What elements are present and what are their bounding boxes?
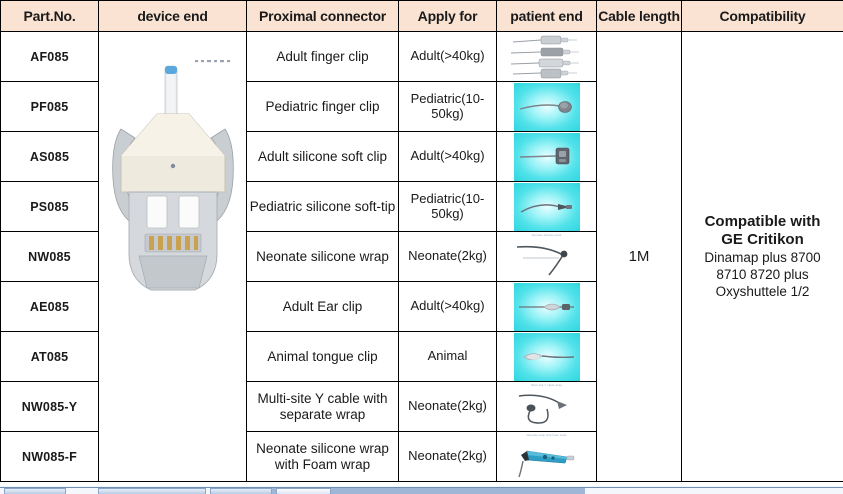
multi-connector-svg: [501, 33, 593, 81]
patient-end-caption: Neonate wrap with foam wrap: [501, 434, 593, 437]
cell-proximal-connector: Adult silicone soft clip: [247, 132, 399, 182]
compatibility-table: Part.No. device end Proximal connector A…: [0, 0, 843, 482]
compatibility-heading-line2: GE Critikon: [682, 231, 843, 249]
patient-end-art-soft-tip: [514, 183, 580, 231]
cell-proximal-connector: Pediatric finger clip: [247, 82, 399, 132]
patient-end-art-tongue-clip: [514, 333, 580, 381]
column-header-proximal-connector: Proximal connector: [247, 1, 399, 32]
cell-apply-for: Adult(>40kg): [399, 282, 497, 332]
chrome-button-4[interactable]: [276, 488, 331, 494]
patient-end-thumbnail: Multi-site Y cable wrap: [497, 383, 596, 431]
patient-end-art-multi-connector: [501, 33, 593, 81]
cell-patient-end-image: Multi-site Y cable wrap: [497, 382, 597, 432]
cell-proximal-connector: Multi-site Y cable with separate wrap: [247, 382, 399, 432]
patient-end-thumbnail: Neonate wrap with foam wrap: [497, 433, 596, 481]
cell-proximal-connector: Adult finger clip: [247, 32, 399, 82]
ear-clip-svg: [514, 283, 580, 331]
cell-patient-end-image: [497, 132, 597, 182]
table-row: AF085: [1, 32, 843, 82]
cell-part-no: PF085: [1, 82, 99, 132]
cell-apply-for: Neonate(2kg): [399, 432, 497, 482]
cell-part-no: NW085: [1, 232, 99, 282]
column-header-cable-length: Cable length: [597, 1, 682, 32]
cell-part-no: NW085-Y: [1, 382, 99, 432]
cell-patient-end-image: [497, 282, 597, 332]
cell-patient-end-image: [497, 332, 597, 382]
column-header-part-no: Part.No.: [1, 1, 99, 32]
patient-end-thumbnail: [497, 283, 596, 331]
compatibility-line-3: Oxyshuttele 1/2: [682, 283, 843, 300]
cell-part-no: AS085: [1, 132, 99, 182]
compatibility-heading-line1: Compatible with: [682, 213, 843, 231]
patient-end-art-y-cable: Multi-site Y cable wrap: [501, 383, 593, 431]
soft-tip-svg: [514, 183, 580, 231]
patient-end-art-finger-clip: [514, 83, 580, 131]
cell-patient-end-image: Neonate silicone wrap: [497, 232, 597, 282]
patient-end-art-silicone-soft-clip: [514, 133, 580, 181]
patient-end-thumbnail: [497, 183, 596, 231]
device-end-svg: [99, 44, 247, 464]
patient-end-caption: Multi-site Y cable wrap: [501, 384, 593, 387]
cell-part-no: AT085: [1, 332, 99, 382]
window-chrome-strip: [0, 486, 843, 494]
cell-patient-end-image: [497, 32, 597, 82]
cell-apply-for: Adult(>40kg): [399, 132, 497, 182]
cell-apply-for: Pediatric(10-50kg): [399, 82, 497, 132]
cell-apply-for: Neonate(2kg): [399, 382, 497, 432]
cell-part-no: AF085: [1, 32, 99, 82]
cell-proximal-connector: Pediatric silicone soft-tip: [247, 182, 399, 232]
patient-end-thumbnail: Neonate silicone wrap: [497, 233, 596, 281]
cell-patient-end-image: [497, 82, 597, 132]
cell-apply-for: Adult(>40kg): [399, 32, 497, 82]
patient-end-art-foam-wrap: Neonate wrap with foam wrap: [501, 433, 593, 481]
cell-apply-for: Animal: [399, 332, 497, 382]
cell-proximal-connector: Neonate silicone wrap with Foam wrap: [247, 432, 399, 482]
neonate-wrap-svg: [501, 233, 593, 281]
column-header-patient-end: patient end: [497, 1, 597, 32]
device-end-connector-illustration: [99, 44, 247, 469]
y-cable-svg: [501, 383, 593, 431]
patient-end-thumbnail: [497, 83, 596, 131]
soft-clip-svg: [514, 133, 580, 181]
chrome-button-2[interactable]: [98, 488, 206, 494]
table-body: AF085: [1, 32, 843, 482]
column-header-compatibility: Compatibility: [682, 1, 843, 32]
patient-end-art-neonate-wrap: Neonate silicone wrap: [501, 233, 593, 281]
cell-proximal-connector: Neonate silicone wrap: [247, 232, 399, 282]
header-row: Part.No. device end Proximal connector A…: [1, 1, 843, 32]
cell-proximal-connector: Animal tongue clip: [247, 332, 399, 382]
cell-part-no: AE085: [1, 282, 99, 332]
cell-part-no: NW085-F: [1, 432, 99, 482]
cell-compatibility: Compatible with GE Critikon Dinamap plus…: [682, 32, 843, 482]
cell-patient-end-image: Neonate wrap with foam wrap: [497, 432, 597, 482]
cell-patient-end-image: [497, 182, 597, 232]
patient-end-caption: Neonate silicone wrap: [501, 234, 593, 237]
cell-apply-for: Pediatric(10-50kg): [399, 182, 497, 232]
cell-cable-length: 1M: [597, 32, 682, 482]
foam-wrap-svg: [501, 433, 593, 481]
finger-clip-svg: [514, 83, 580, 131]
compatibility-line-2: 8710 8720 plus: [682, 266, 843, 283]
patient-end-thumbnail: [497, 33, 596, 81]
column-header-device-end: device end: [99, 1, 247, 32]
patient-end-thumbnail: [497, 133, 596, 181]
patient-end-thumbnail: [497, 333, 596, 381]
chrome-button-3[interactable]: [210, 488, 272, 494]
cell-device-end-image: [99, 32, 247, 482]
table-header: Part.No. device end Proximal connector A…: [1, 1, 843, 32]
cell-proximal-connector: Adult Ear clip: [247, 282, 399, 332]
compatibility-line-1: Dinamap plus 8700: [682, 249, 843, 266]
column-header-apply-for: Apply for: [399, 1, 497, 32]
spec-sheet: Part.No. device end Proximal connector A…: [0, 0, 843, 494]
chrome-button-1[interactable]: [4, 488, 66, 494]
cell-part-no: PS085: [1, 182, 99, 232]
tongue-clip-svg: [514, 333, 580, 381]
cell-apply-for: Neonate(2kg): [399, 232, 497, 282]
patient-end-art-ear-clip: [514, 283, 580, 331]
